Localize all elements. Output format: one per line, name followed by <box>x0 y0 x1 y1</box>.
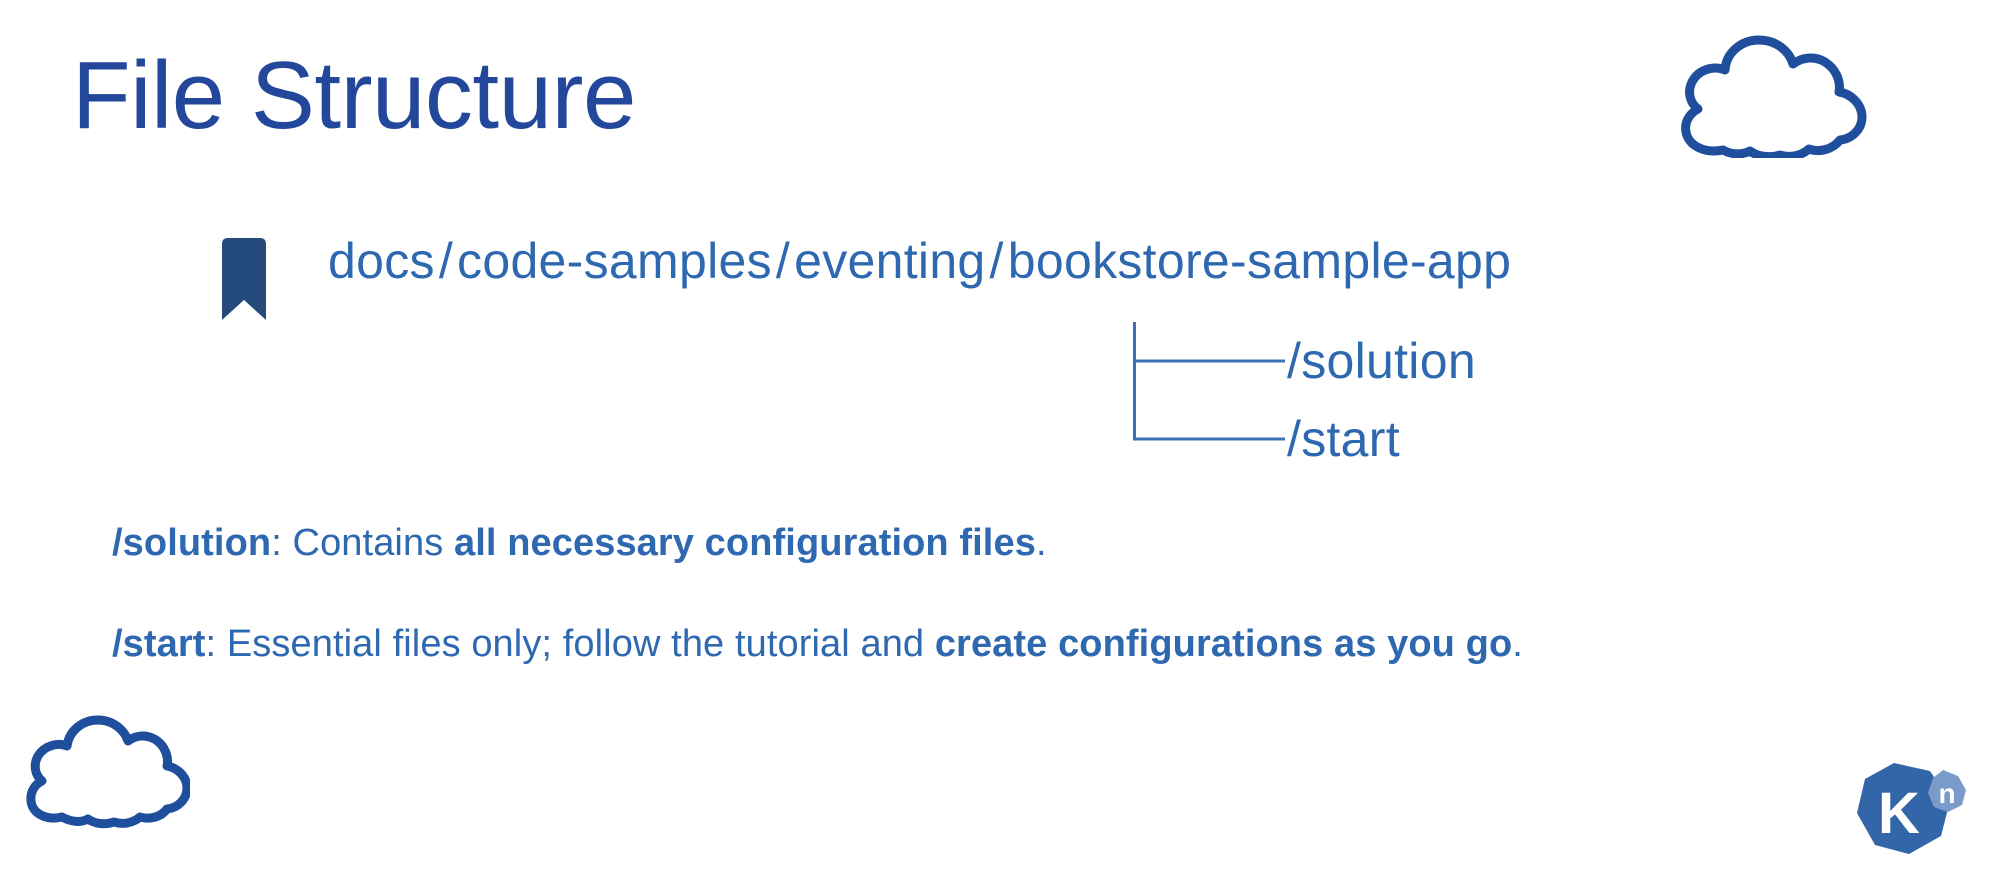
tree-row: /start <box>1133 400 1476 478</box>
path-separator: / <box>986 233 1008 289</box>
tree-row: /solution <box>1133 322 1476 400</box>
body-mid-solution: : Contains <box>271 522 454 564</box>
knative-logo-letter-n: n <box>1938 778 1955 809</box>
body-emphasis-start: create configurations as you go <box>935 623 1512 665</box>
body-mid-start: : Essential files only; follow the tutor… <box>206 623 935 665</box>
tree-label-solution: /solution <box>1287 336 1476 386</box>
body-term-solution: /solution <box>112 522 271 564</box>
tree-label-start: /start <box>1287 414 1400 464</box>
cloud-icon <box>10 712 190 830</box>
path-segment-code-samples: code-samples <box>457 233 772 289</box>
cloud-icon <box>1662 28 1874 158</box>
path-segment-eventing: eventing <box>794 233 985 289</box>
tree-branch-elbow-icon <box>1133 400 1285 478</box>
knative-logo-letter-k: K <box>1878 781 1920 846</box>
path-segment-bookstore-sample-app: bookstore-sample-app <box>1008 233 1512 289</box>
path-separator: / <box>435 233 457 289</box>
path-separator: / <box>772 233 794 289</box>
tree-branch-tee-icon <box>1133 322 1285 400</box>
body-line-solution: /solution: Contains all necessary config… <box>112 524 1047 562</box>
body-line-start: /start: Essential files only; follow the… <box>112 625 1523 663</box>
file-path-text: docs/code-samples/eventing/bookstore-sam… <box>328 236 1511 286</box>
body-emphasis-solution: all necessary configuration files <box>454 522 1036 564</box>
file-tree: /solution /start <box>1133 322 1476 478</box>
bookmark-icon <box>216 238 272 322</box>
body-tail-solution: . <box>1036 522 1047 564</box>
body-tail-start: . <box>1512 623 1523 665</box>
file-path-row: docs/code-samples/eventing/bookstore-sam… <box>216 236 1511 322</box>
path-segment-docs: docs <box>328 233 435 289</box>
body-term-start: /start <box>112 623 206 665</box>
knative-logo: K n <box>1851 757 1971 865</box>
page-title: File Structure <box>72 48 636 144</box>
